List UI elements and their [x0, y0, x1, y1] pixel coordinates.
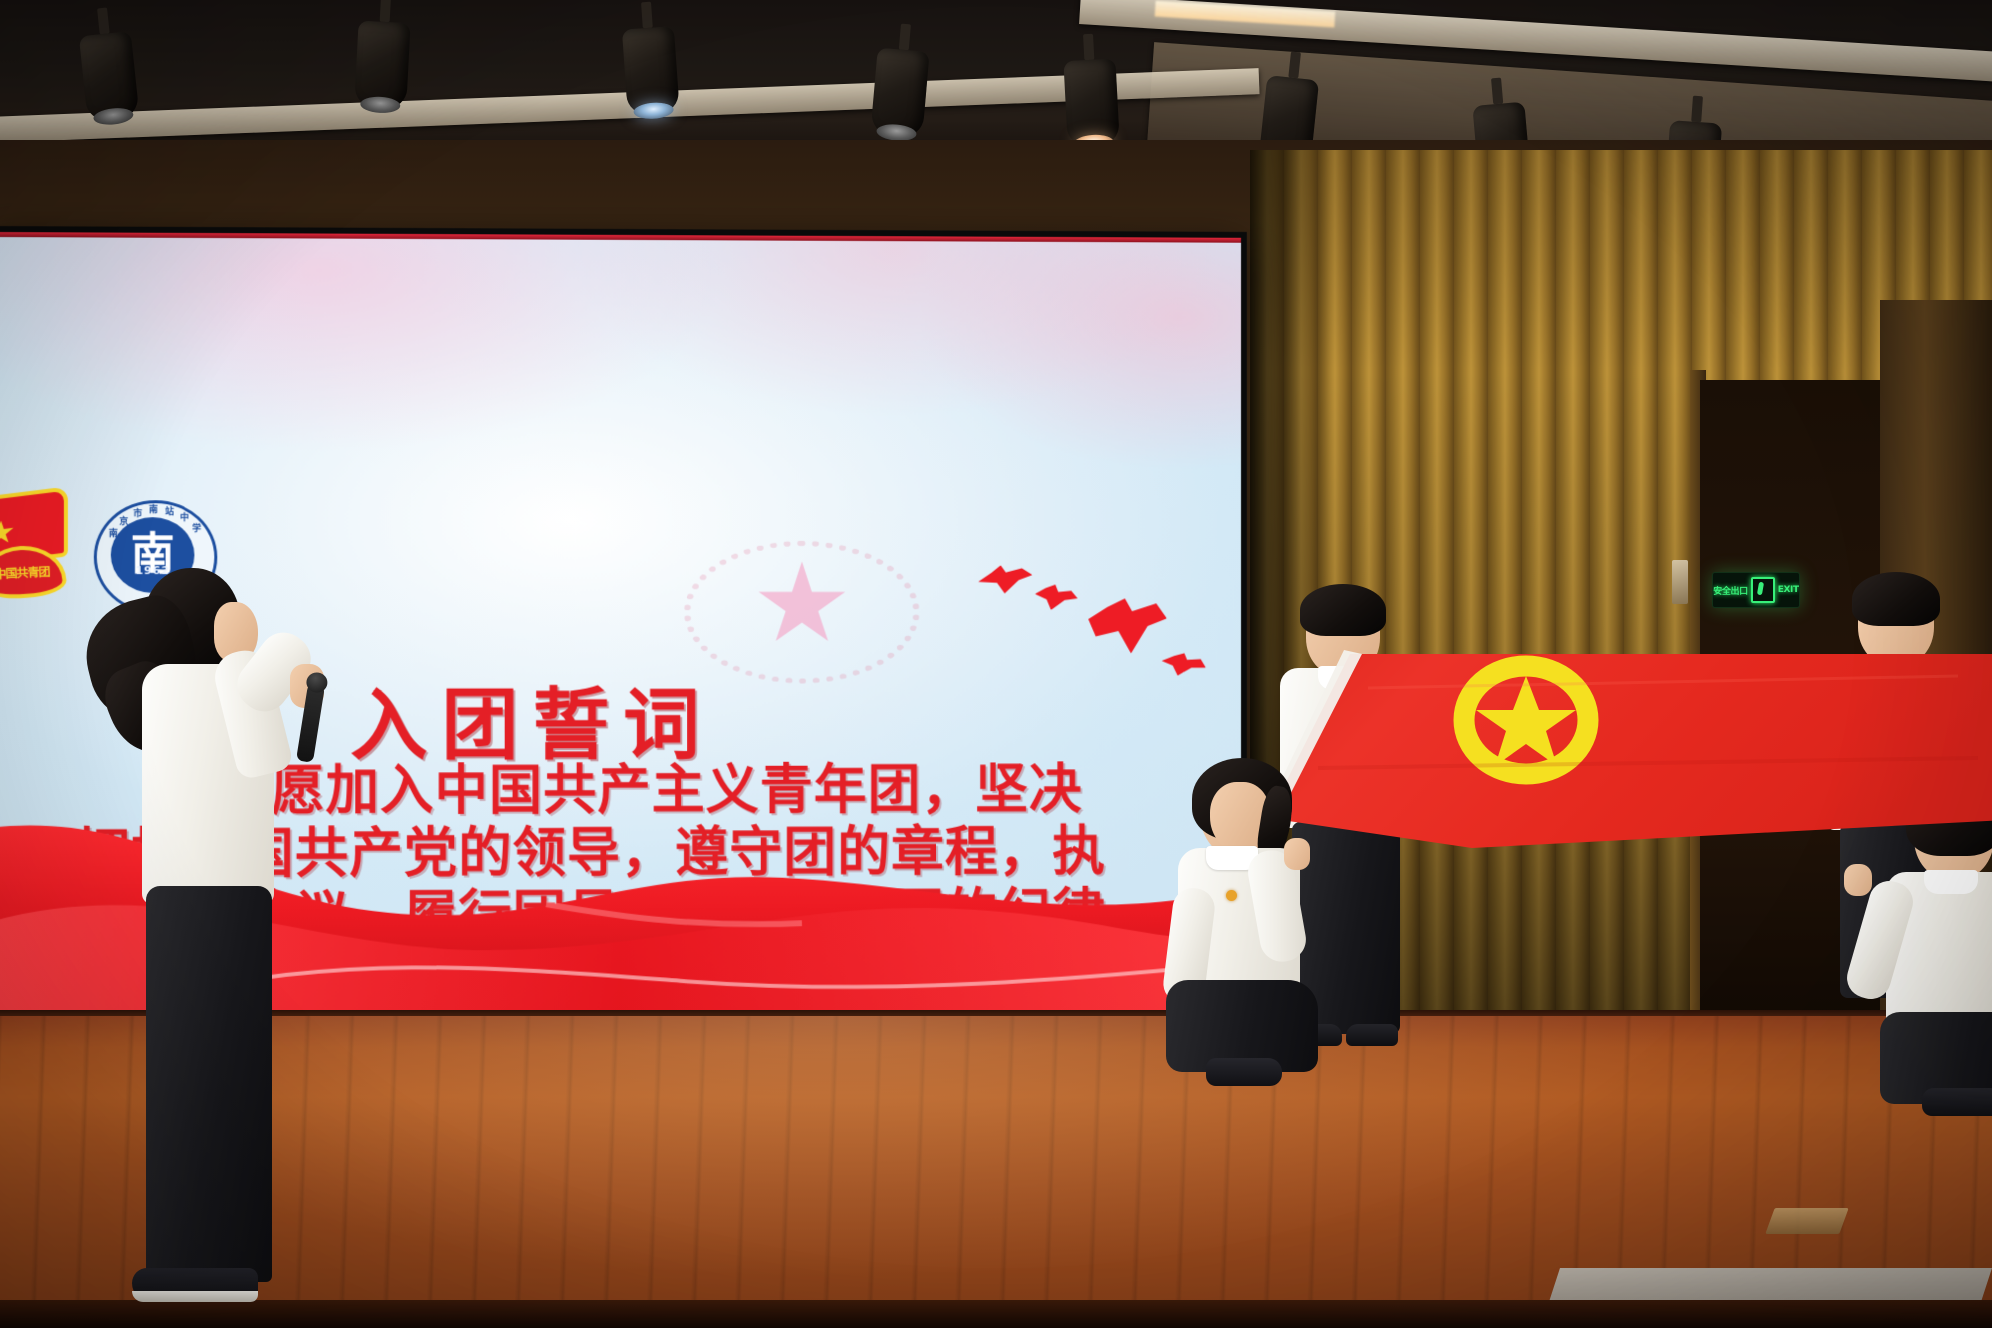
stage-light — [1062, 33, 1120, 148]
emblem-banner: 中国共青团 — [0, 544, 67, 600]
stage-light — [354, 0, 412, 109]
black-trousers — [146, 886, 272, 1282]
exit-sign-label-en: EXIT — [1778, 585, 1799, 595]
emblem-star-icon — [0, 519, 14, 547]
exit-sign-label-cn: 安全出口 — [1713, 584, 1747, 597]
dove-icon — [1160, 649, 1208, 681]
shoe — [1206, 1058, 1282, 1086]
stage-light — [620, 0, 680, 115]
person-student-speaker — [106, 568, 336, 1318]
person-flag-bearer-kneeling-center — [1148, 762, 1358, 1092]
hand-holding-flag — [1284, 838, 1310, 870]
auditorium-stage-scene: 安全出口 EXIT 中国共青团 — [0, 0, 1992, 1328]
hair — [1852, 572, 1940, 626]
dove-icon — [1084, 596, 1169, 656]
youth-league-flag — [1258, 648, 1992, 898]
shoe — [1922, 1088, 1992, 1116]
floor-access-plate — [1765, 1208, 1848, 1234]
league-badge-pin — [1226, 890, 1237, 901]
wall-switch-plate[interactable] — [1672, 560, 1688, 604]
emergency-exit-sign: 安全出口 EXIT — [1712, 572, 1800, 608]
stage-light — [870, 22, 932, 138]
emblem-banner-text: 中国共青团 — [0, 548, 63, 596]
running-person-icon — [1751, 577, 1775, 603]
sneaker — [132, 1268, 258, 1302]
hair — [1300, 584, 1386, 636]
youth-league-emblem-icon: 中国共青团 — [0, 484, 62, 606]
